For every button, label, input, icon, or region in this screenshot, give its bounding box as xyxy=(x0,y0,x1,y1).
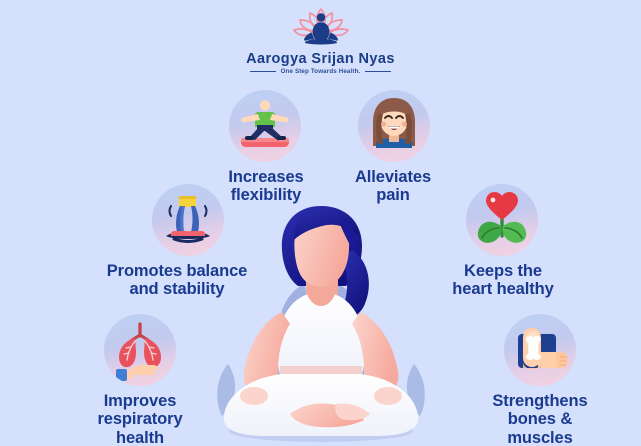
badge-respiratory xyxy=(104,314,176,386)
tagline-rule-right xyxy=(365,71,391,72)
benefit-label-respiratory: Improves respiratory health xyxy=(70,392,210,446)
brand-tagline-row: One Step Towards Health. xyxy=(0,68,641,75)
tagline-rule-left xyxy=(250,71,276,72)
smiling-woman-face-icon xyxy=(358,90,430,162)
badge-pain xyxy=(358,90,430,162)
benefit-label-bones: Strengthens bones & muscles xyxy=(468,392,612,446)
yoga-warrior-pose-icon xyxy=(229,90,301,162)
brand-name: Aarogya Srijan Nyas xyxy=(0,51,641,67)
lungs-in-hand-icon xyxy=(104,314,176,386)
balance-board-legs-icon xyxy=(152,184,224,256)
brand-logo-block: Aarogya Srijan Nyas One Step Towards Hea… xyxy=(0,6,641,75)
flexed-arm-bone-icon xyxy=(504,314,576,386)
benefit-strengthens-bones-muscles[interactable]: Strengthens bones & muscles xyxy=(490,314,641,446)
benefit-label-pain: Alleviates pain xyxy=(340,168,446,205)
benefit-keeps-heart-healthy[interactable]: Keeps the heart healthy xyxy=(446,184,616,299)
badge-balance xyxy=(152,184,224,256)
badge-heart xyxy=(466,184,538,256)
lotus-meditation-icon xyxy=(290,6,352,50)
brand-tagline: One Step Towards Health. xyxy=(281,68,361,75)
right-hand xyxy=(374,387,402,405)
benefit-promotes-balance[interactable]: Promotes balance and stability xyxy=(136,184,316,299)
benefit-improves-respiratory-health[interactable]: Improves respiratory health xyxy=(92,314,252,446)
benefit-label-balance: Promotes balance and stability xyxy=(88,262,266,299)
yoga-benefits-infographic: Aarogya Srijan Nyas One Step Towards Hea… xyxy=(0,0,641,446)
badge-flexibility xyxy=(229,90,301,162)
benefit-label-heart: Keeps the heart healthy xyxy=(428,262,578,299)
badge-bones xyxy=(504,314,576,386)
heart-with-leaves-icon xyxy=(466,184,538,256)
